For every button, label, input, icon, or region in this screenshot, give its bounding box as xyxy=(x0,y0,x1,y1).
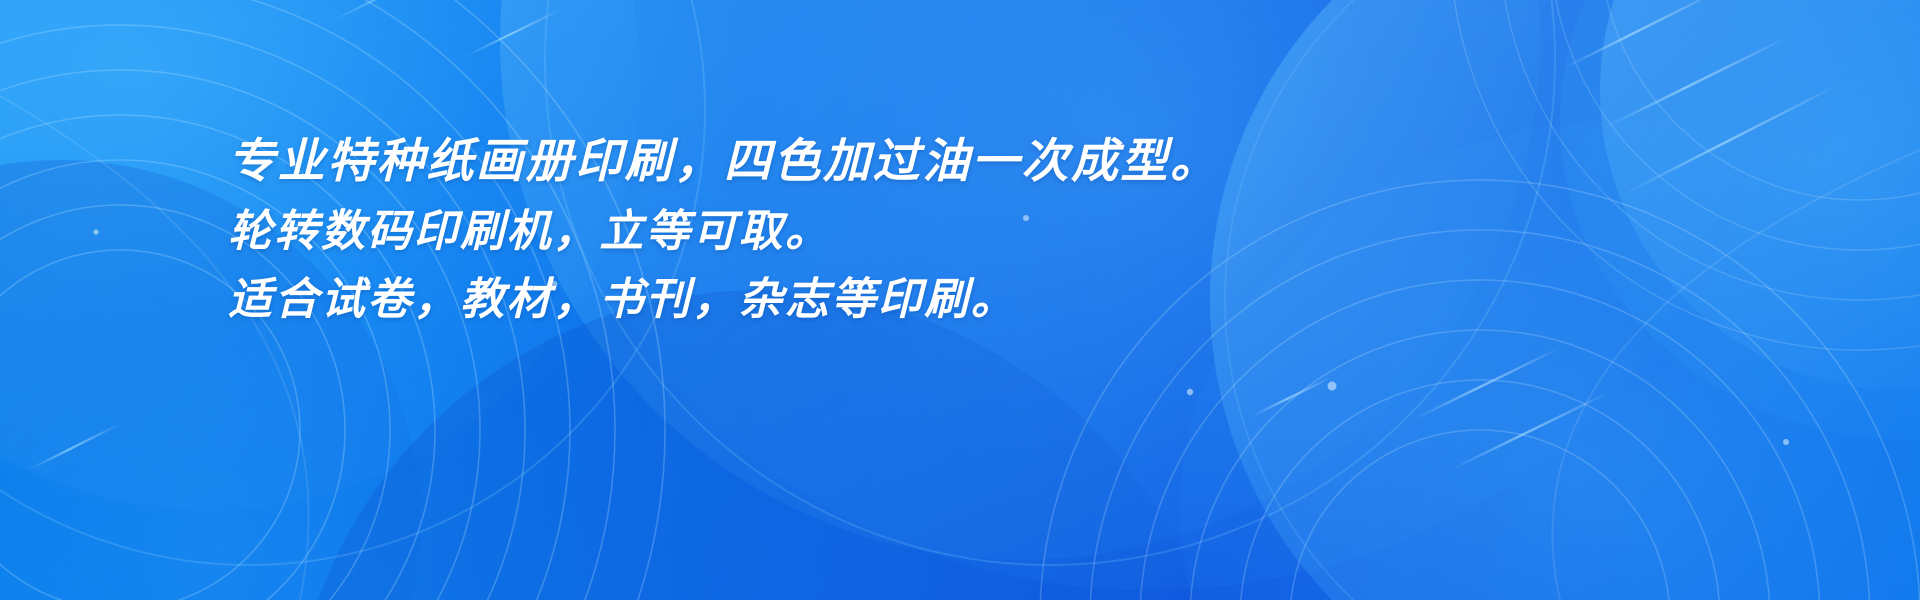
promotional-banner: 专业特种纸画册印刷，四色加过油一次成型。 轮转数码印刷机，立等可取。 适合试卷，… xyxy=(0,0,1920,600)
decorative-circle-bottom xyxy=(290,290,1230,600)
headline-line-3: 适合试卷，教材，书刊，杂志等印刷。 xyxy=(228,266,1678,334)
headline-block: 专业特种纸画册印刷，四色加过油一次成型。 轮转数码印刷机，立等可取。 适合试卷，… xyxy=(228,126,1678,334)
headline-line-2: 轮转数码印刷机，立等可取。 xyxy=(228,198,1678,266)
decorative-glow-bottom-left xyxy=(0,300,600,600)
headline-line-1: 专业特种纸画册印刷，四色加过油一次成型。 xyxy=(228,126,1678,198)
